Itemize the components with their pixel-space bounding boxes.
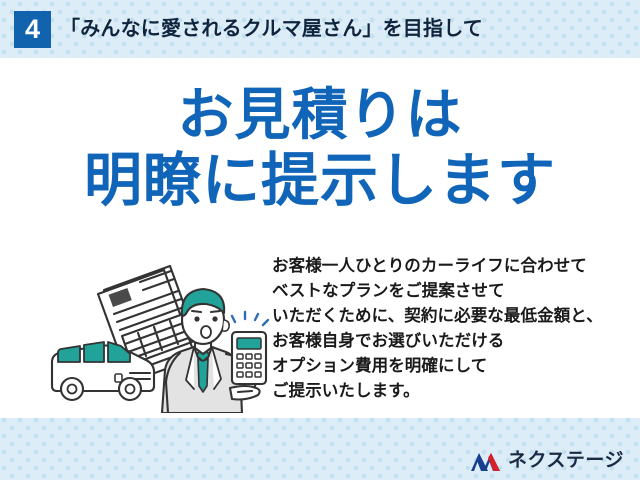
brand-name: ネクステージ (508, 448, 624, 474)
body-copy-line: いただくために、契約に必要な最低金額と、 (272, 304, 632, 329)
headline-line-2: 明瞭に提示します (0, 151, 640, 210)
nextage-n-mark-icon (471, 450, 501, 472)
promo-banner: 4 「みんなに愛されるクルマ屋さん」を目指して お見積りは 明瞭に提示します (0, 0, 640, 480)
calculator-icon (232, 312, 268, 384)
body-copy-line: お客様自身でお選びいただける (272, 329, 632, 354)
illustration-svg (42, 258, 274, 413)
header-bar: 4 「みんなに愛されるクルマ屋さん」を目指して (0, 0, 640, 58)
body-copy: お客様一人ひとりのカーライフに合わせて ベストなプランをご提案させて いただくた… (272, 254, 632, 404)
sparkle-icon (232, 312, 268, 325)
illustration-group (42, 258, 274, 413)
body-copy-line: ベストなプランをご提案させて (272, 279, 632, 304)
body-copy-line: お客様一人ひとりのカーライフに合わせて (272, 254, 632, 279)
body-copy-line: ご提示いたします。 (272, 379, 632, 404)
brand-lockup: ネクステージ (471, 448, 624, 474)
content-panel: お見積りは 明瞭に提示します (0, 58, 640, 418)
headline-line-1: お見積りは (0, 86, 640, 143)
headline: お見積りは 明瞭に提示します (0, 86, 640, 210)
body-copy-line: オプション費用を明確にして (272, 354, 632, 379)
section-number-badge: 4 (14, 11, 51, 48)
header-title: 「みんなに愛されるクルマ屋さん」を目指して (60, 14, 483, 44)
